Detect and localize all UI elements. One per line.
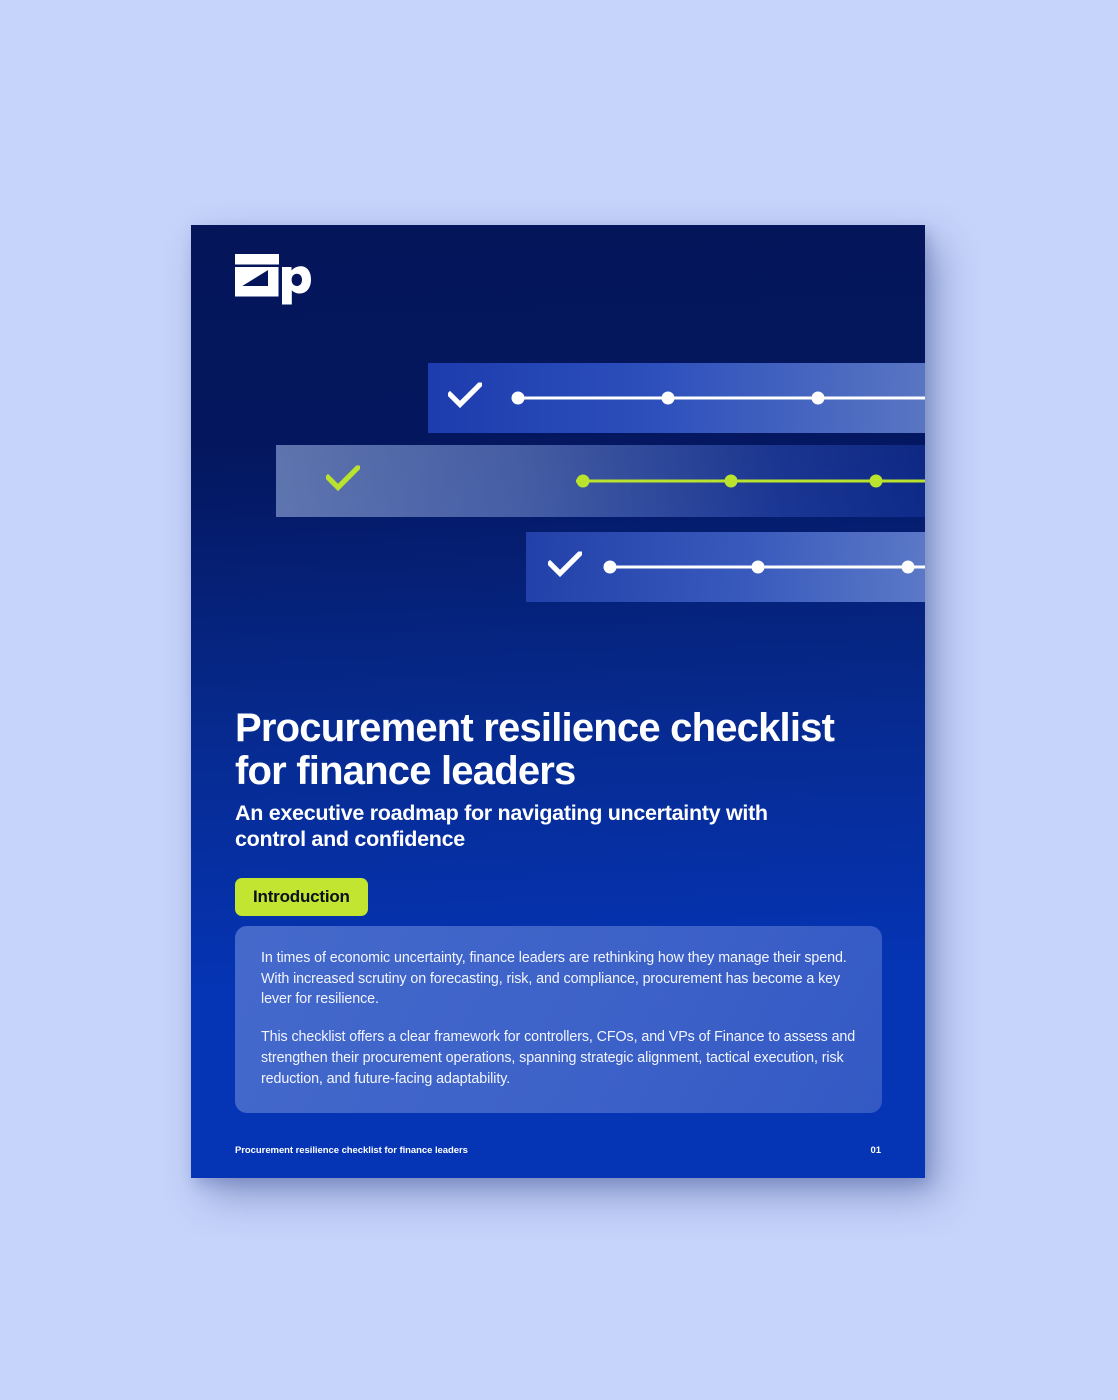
check-icon	[326, 466, 360, 497]
progress-dot	[752, 561, 765, 574]
checklist-band-2	[276, 445, 925, 517]
footer-document-title: Procurement resilience checklist for fin…	[235, 1145, 468, 1156]
progress-dot	[812, 392, 825, 405]
checklist-band-1	[428, 363, 925, 433]
progress-dot	[725, 475, 738, 488]
page-subtitle: An executive roadmap for navigating unce…	[235, 801, 835, 853]
intro-paragraph-2: This checklist offers a clear framework …	[261, 1027, 856, 1089]
progress-dot	[604, 561, 617, 574]
document-page: Procurement resilience checklist for fin…	[191, 225, 925, 1178]
progress-dot	[577, 475, 590, 488]
progress-track	[512, 397, 925, 400]
check-icon	[448, 383, 482, 414]
progress-dot	[870, 475, 883, 488]
introduction-badge: Introduction	[235, 878, 368, 916]
checklist-band-3	[526, 532, 925, 602]
intro-paragraph-1: In times of economic uncertainty, financ…	[261, 948, 856, 1010]
page-title: Procurement resilience checklist for fin…	[235, 707, 875, 794]
check-icon	[548, 552, 582, 583]
introduction-card: In times of economic uncertainty, financ…	[235, 926, 882, 1113]
progress-dot	[512, 392, 525, 405]
page-footer: Procurement resilience checklist for fin…	[235, 1145, 881, 1156]
zip-logo	[233, 253, 311, 305]
progress-track	[604, 566, 925, 569]
progress-dot	[902, 561, 915, 574]
progress-dot	[662, 392, 675, 405]
footer-page-number: 01	[871, 1145, 881, 1156]
